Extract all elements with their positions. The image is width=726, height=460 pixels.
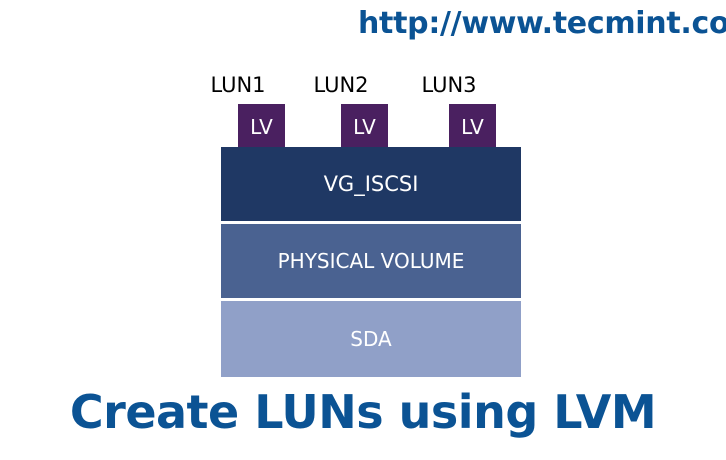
- logical-volume-box-1: LV: [238, 104, 285, 149]
- physical-volume-layer: PHYSICAL VOLUME: [221, 224, 521, 298]
- logical-volume-box-3: LV: [449, 104, 496, 149]
- page-title: Create LUNs using LVM: [0, 385, 726, 439]
- lun-label-2: LUN2: [301, 73, 381, 97]
- logical-volume-box-2: LV: [341, 104, 388, 149]
- lun-label-1: LUN1: [198, 73, 278, 97]
- site-watermark: http://www.tecmint.com: [358, 6, 726, 41]
- diagram-canvas: http://www.tecmint.com LUN1 LUN2 LUN3 LV…: [0, 0, 726, 460]
- volume-group-layer: VG_ISCSI: [221, 147, 521, 221]
- lun-label-3: LUN3: [409, 73, 489, 97]
- disk-sda-layer: SDA: [221, 301, 521, 377]
